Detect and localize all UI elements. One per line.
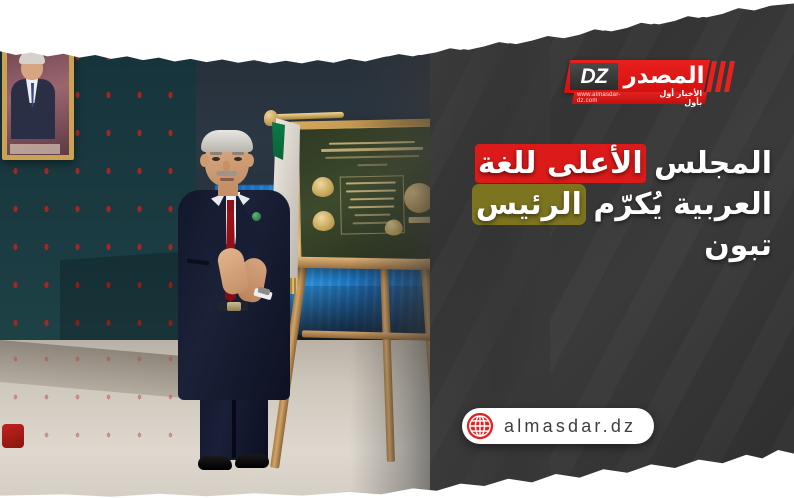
headline-line-1-plain: المجلس bbox=[644, 146, 772, 181]
moustache bbox=[216, 171, 237, 176]
mouth bbox=[220, 178, 234, 181]
logo-dz-box: DZ bbox=[570, 63, 618, 90]
logo-website-url: www.almasdar-dz.com bbox=[577, 92, 640, 104]
headline: المجلس الأعلى للغة العربية يُكرّم الرئيس… bbox=[392, 143, 772, 266]
belt-buckle bbox=[227, 302, 241, 311]
headline-line-1-highlight: الأعلى للغة bbox=[477, 146, 644, 181]
portrait-nameplate bbox=[10, 144, 60, 154]
logo-arabic-wordmark: المصدر bbox=[623, 61, 705, 92]
headline-line-2: العربية يُكرّم الرئيس bbox=[392, 184, 772, 225]
ear-right bbox=[245, 154, 254, 167]
shoe-right bbox=[235, 454, 269, 468]
website-badge[interactable]: almasdar.dz bbox=[462, 408, 654, 444]
headline-line-2-highlight: الرئيس bbox=[475, 187, 583, 222]
logo-dz-text: DZ bbox=[581, 66, 608, 87]
headline-line-3: تبون bbox=[392, 225, 772, 266]
shoe-left bbox=[198, 456, 232, 470]
nose bbox=[223, 161, 230, 171]
eyebrow-left bbox=[210, 152, 222, 155]
headline-line-1: المجلس الأعلى للغة bbox=[392, 143, 772, 184]
applauding-official bbox=[178, 130, 290, 475]
eyebrow-right bbox=[232, 152, 244, 155]
eye-right bbox=[234, 157, 242, 161]
headline-line-2-plain: العربية يُكرّم bbox=[583, 187, 772, 222]
hair bbox=[201, 130, 253, 152]
logo-tagline-bar: www.almasdar-dz.com الأخبار أول بأول bbox=[572, 92, 707, 104]
framed-portrait bbox=[2, 38, 74, 160]
logo-tagline-text: الأخبار أول بأول bbox=[640, 89, 702, 107]
almasdar-logo[interactable]: DZ المصدر www.almasdar-dz.com الأخبار أو… bbox=[567, 60, 737, 108]
red-object-on-floor bbox=[2, 424, 24, 448]
website-label: almasdar.dz bbox=[504, 416, 636, 437]
eye-left bbox=[212, 157, 220, 161]
floor-dot-reflection bbox=[0, 340, 180, 460]
logo-slash-3 bbox=[724, 61, 735, 92]
ear-left bbox=[200, 154, 209, 167]
globe-icon bbox=[466, 412, 494, 440]
lapel-pin bbox=[252, 212, 261, 221]
news-cover-card: DZ المصدر www.almasdar-dz.com الأخبار أو… bbox=[0, 0, 794, 498]
